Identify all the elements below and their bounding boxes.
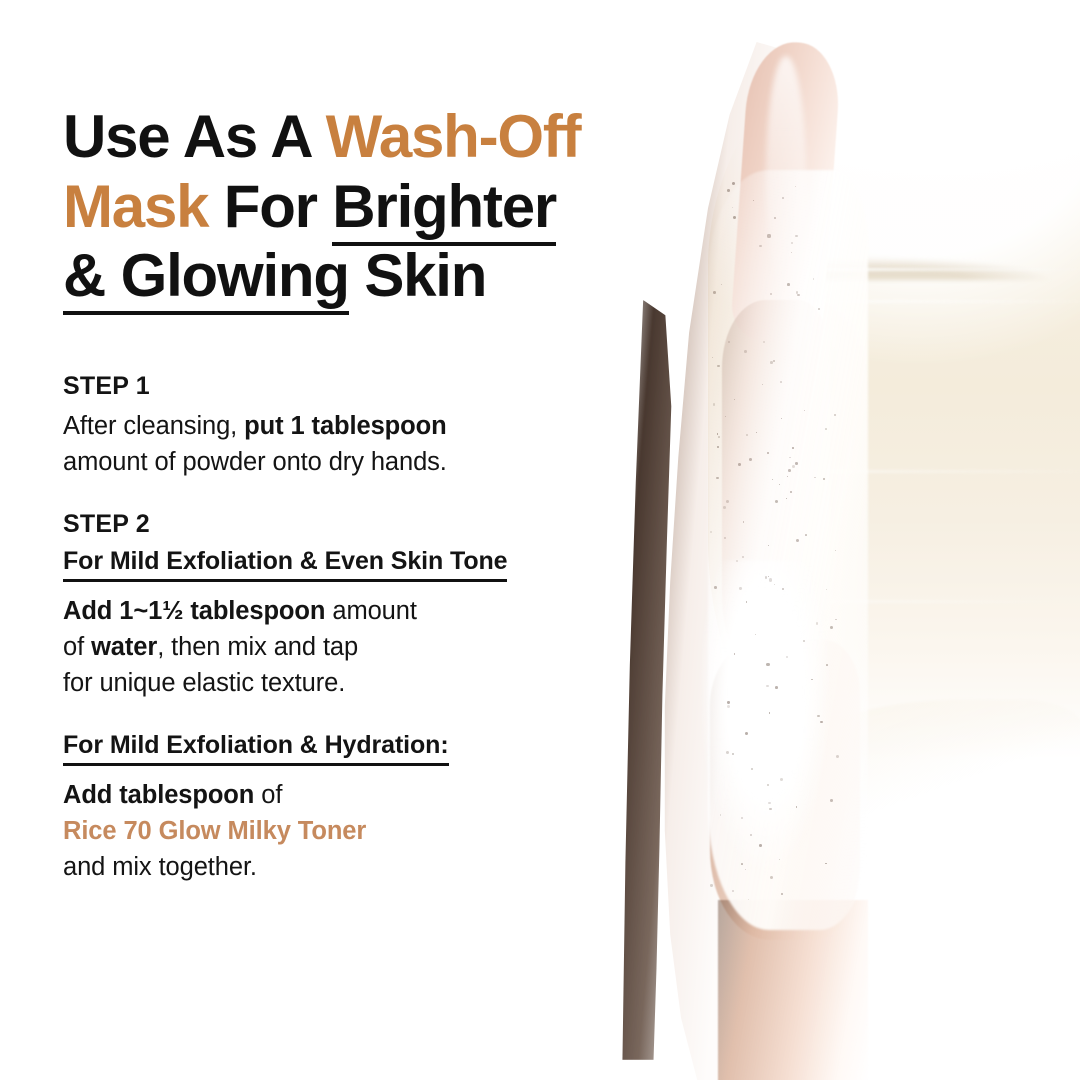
step-text-line: of water, then mix and tap xyxy=(63,630,653,666)
body-text: of xyxy=(63,633,91,661)
headline-part-1: Use As A xyxy=(63,103,326,170)
body-text: amount xyxy=(325,597,416,625)
emphasis-text: Add tablespoon xyxy=(63,781,254,809)
step-text-line: and mix together. xyxy=(63,850,653,886)
step-text-line: Rice 70 Glow Milky Toner xyxy=(63,814,653,850)
headline-accent-wash-off: Wash-Off xyxy=(326,103,581,170)
step-text-line: for unique elastic texture. xyxy=(63,666,653,702)
step-block: STEP 1After cleansing, put 1 tablespoona… xyxy=(63,372,653,480)
emphasis-text: Add 1~1½ tablespoon xyxy=(63,597,325,625)
instruction-steps: STEP 1After cleansing, put 1 tablespoona… xyxy=(63,372,653,916)
step-text-line: After cleansing, put 1 tablespoon xyxy=(63,409,653,445)
step-label: STEP 2 xyxy=(63,510,653,539)
step-subheading: For Mild Exfoliation & Hydration: xyxy=(63,731,449,766)
step-text-line: Add 1~1½ tablespoon amount xyxy=(63,594,653,630)
headline-accent-mask: Mask xyxy=(63,173,208,240)
body-text: After cleansing, xyxy=(63,412,244,440)
emphasis-text: put 1 tablespoon xyxy=(244,412,446,440)
headline-part-for: For xyxy=(208,173,332,240)
body-text: of xyxy=(254,781,282,809)
step-text-line: amount of powder onto dry hands. xyxy=(63,445,653,481)
step-subheading: For Mild Exfoliation & Even Skin Tone xyxy=(63,547,507,582)
step-text-line: Add tablespoon of xyxy=(63,778,653,814)
body-text: amount of powder onto dry hands. xyxy=(63,448,447,476)
body-text: for unique elastic texture. xyxy=(63,669,345,697)
step-block: STEP 2For Mild Exfoliation & Even Skin T… xyxy=(63,510,653,701)
step-block: For Mild Exfoliation & Hydration:Add tab… xyxy=(63,731,653,885)
page-title: Use As A Wash-Off Mask For Brighter & Gl… xyxy=(63,102,673,311)
product-name-text: Rice 70 Glow Milky Toner xyxy=(63,817,366,845)
infographic-canvas: Use As A Wash-Off Mask For Brighter & Gl… xyxy=(0,0,1080,1080)
headline-underline-brighter: Brighter xyxy=(332,173,556,246)
body-text: , then mix and tap xyxy=(157,633,358,661)
foam-highlight xyxy=(702,560,842,890)
step-label: STEP 1 xyxy=(63,372,653,401)
headline-part-skin: Skin xyxy=(349,242,486,309)
emphasis-text: water xyxy=(91,633,157,661)
headline-underline-glowing: & Glowing xyxy=(63,242,349,315)
body-text: and mix together. xyxy=(63,853,257,881)
